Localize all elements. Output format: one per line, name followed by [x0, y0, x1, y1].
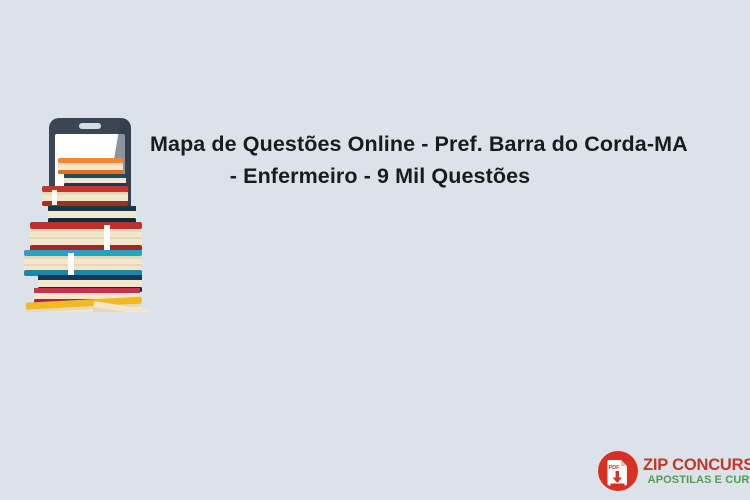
book-teal-thick [24, 250, 142, 276]
zip-concursos-logo[interactable]: PDF ZIP CONCURSOS APOSTILAS E CURSOS [597, 448, 743, 494]
book-red-thick [30, 222, 142, 251]
title-line-1: Mapa de Questões Online - Pref. Barra do… [150, 128, 610, 160]
logo-wordmark: ZIP CONCURSOS APOSTILAS E CURSOS [643, 456, 750, 487]
book-orange-top [58, 158, 123, 174]
page-title: Mapa de Questões Online - Pref. Barra do… [150, 128, 610, 192]
pdf-download-icon: PDF [597, 450, 639, 492]
logo-secondary-text: APOSTILAS E CURSOS [648, 474, 750, 487]
book-navy-slim [64, 174, 126, 187]
svg-text:PDF: PDF [609, 465, 621, 471]
promo-banner: Mapa de Questões Online - Pref. Barra do… [0, 0, 750, 500]
book-red-upper [42, 186, 128, 206]
title-line-2: - Enfermeiro - 9 Mil Questões [150, 160, 610, 192]
books-illustration [8, 112, 173, 312]
logo-primary-text: ZIP CONCURSOS [643, 456, 750, 474]
book-darkblue [48, 206, 136, 223]
